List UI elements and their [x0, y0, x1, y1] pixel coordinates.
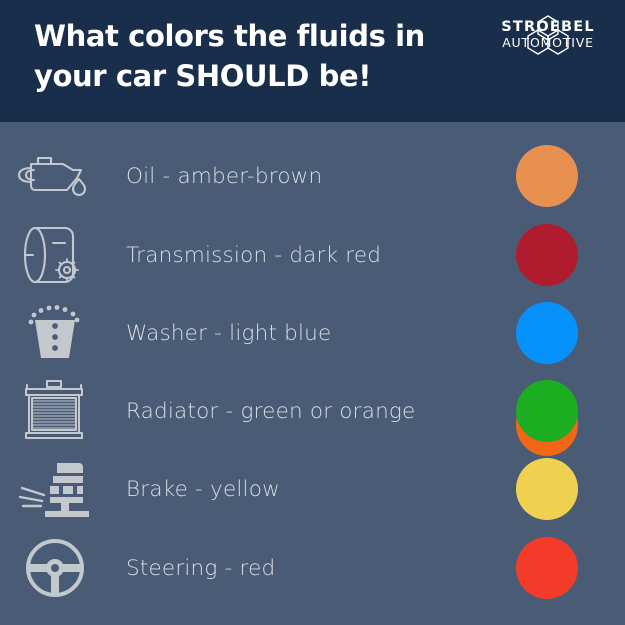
page-title: What colors the fluids in your car SHOUL… — [34, 16, 454, 96]
page-title-line-2: your car SHOULD be! — [34, 56, 454, 96]
list-item-label: Washer - light blue — [110, 321, 500, 346]
logo-name-top: STROEBEL — [501, 19, 595, 35]
header-banner: What colors the fluids in your car SHOUL… — [0, 0, 625, 122]
logo-name-bottom: AUTOMOTIVE — [502, 35, 594, 50]
swatch-group — [500, 450, 625, 528]
yellow-swatch — [516, 458, 578, 520]
list-item-label: Steering - red — [110, 556, 500, 581]
red-swatch — [516, 537, 578, 599]
swatch-group — [500, 529, 625, 607]
windshield-washer-icon — [0, 297, 110, 369]
list-item[interactable]: Transmission - dark red — [0, 216, 625, 294]
radiator-icon — [0, 375, 110, 447]
infographic-card: What colors the fluids in your car SHOUL… — [0, 0, 625, 625]
list-item[interactable]: Brake - yellow — [0, 450, 625, 528]
list-item[interactable]: Steering - red — [0, 529, 625, 607]
light-blue-swatch — [516, 302, 578, 364]
fluid-color-list: Oil - amber-brown — [0, 122, 625, 625]
transmission-icon — [0, 219, 110, 291]
list-item-label: Transmission - dark red — [110, 243, 500, 268]
swatch-group — [500, 294, 625, 372]
list-item-label: Radiator - green or orange — [110, 399, 500, 424]
list-item-label: Brake - yellow — [110, 477, 500, 502]
swatch-group — [500, 372, 625, 450]
list-item-label: Oil - amber-brown — [110, 164, 500, 189]
oil-can-icon — [0, 140, 110, 212]
green-swatch — [516, 380, 578, 442]
list-item[interactable]: Oil - amber-brown — [0, 137, 625, 215]
stroebel-automotive-logo[interactable]: STROEBEL AUTOMOTIVE — [483, 10, 613, 60]
dark-red-swatch — [516, 224, 578, 286]
list-item[interactable]: Washer - light blue — [0, 294, 625, 372]
page-title-line-1: What colors the fluids in — [34, 16, 454, 56]
amber-brown-swatch — [516, 145, 578, 207]
swatch-group — [500, 216, 625, 294]
swatch-group — [500, 137, 625, 215]
steering-wheel-icon — [0, 532, 110, 604]
braking-car-icon — [0, 453, 110, 525]
list-item[interactable]: Radiator - green or orange — [0, 372, 625, 450]
